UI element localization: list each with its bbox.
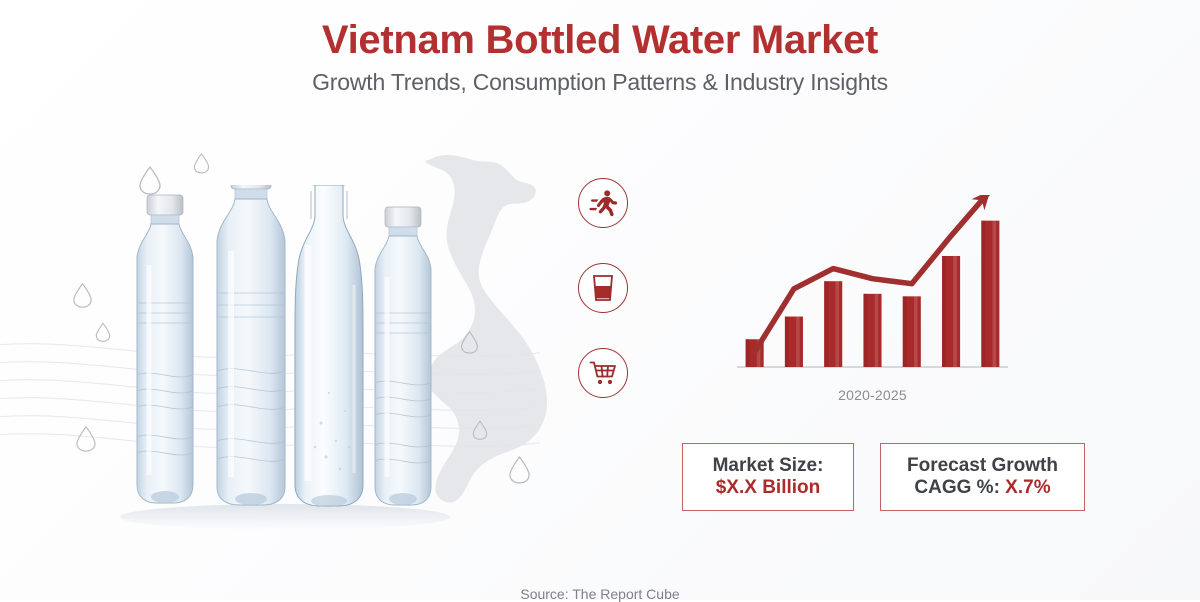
chart-bar — [903, 296, 921, 367]
header-block: Vietnam Bottled Water Market Growth Tren… — [0, 18, 1200, 96]
page-subtitle: Growth Trends, Consumption Patterns & In… — [0, 69, 1200, 96]
chart-bar — [785, 317, 803, 367]
water-droplet-icon — [193, 152, 210, 174]
pet-bottle-small-left — [137, 195, 193, 503]
pet-bottle-small-right — [375, 207, 431, 505]
page-title: Vietnam Bottled Water Market — [0, 18, 1200, 63]
forecast-growth-label: Forecast Growth — [907, 455, 1058, 477]
water-droplet-icon — [72, 282, 93, 308]
chart-bar — [981, 221, 999, 367]
chart-bar — [824, 281, 842, 367]
shopping-cart-icon — [589, 360, 617, 386]
running-person-icon — [589, 189, 617, 217]
cagg-line: CAGG %: X.7% — [914, 477, 1050, 499]
water-droplet-icon — [472, 420, 488, 440]
running-person-icon-badge[interactable] — [578, 178, 628, 228]
cagg-value: X.7% — [1005, 477, 1050, 498]
feature-icon-column — [578, 178, 634, 398]
pet-bottle-tall — [217, 185, 285, 505]
infographic-canvas: Vietnam Bottled Water Market Growth Tren… — [0, 0, 1200, 600]
market-size-label: Market Size: — [713, 455, 824, 477]
chart-plot-area — [735, 195, 1010, 385]
forecast-growth-card[interactable]: Forecast Growth CAGG %: X.7% — [880, 443, 1085, 511]
chart-bar — [942, 256, 960, 367]
water-bottles-illustration — [105, 185, 465, 530]
water-droplet-icon — [508, 455, 531, 484]
key-metrics-row: Market Size: $X.X Billion Forecast Growt… — [682, 443, 1102, 515]
growth-bar-chart: 2020-2025 — [735, 195, 1010, 410]
shopping-cart-icon-badge[interactable] — [578, 348, 628, 398]
drinking-glass-icon-badge[interactable] — [578, 263, 628, 313]
chart-period-label: 2020-2025 — [735, 387, 1010, 403]
drinking-glass-icon — [590, 274, 616, 302]
cagg-label: CAGG %: — [914, 477, 1000, 498]
glass-bottle — [295, 185, 363, 507]
water-droplet-icon — [75, 425, 97, 452]
market-size-value: $X.X Billion — [716, 477, 821, 499]
chart-bar — [863, 294, 881, 367]
market-size-card[interactable]: Market Size: $X.X Billion — [682, 443, 854, 511]
